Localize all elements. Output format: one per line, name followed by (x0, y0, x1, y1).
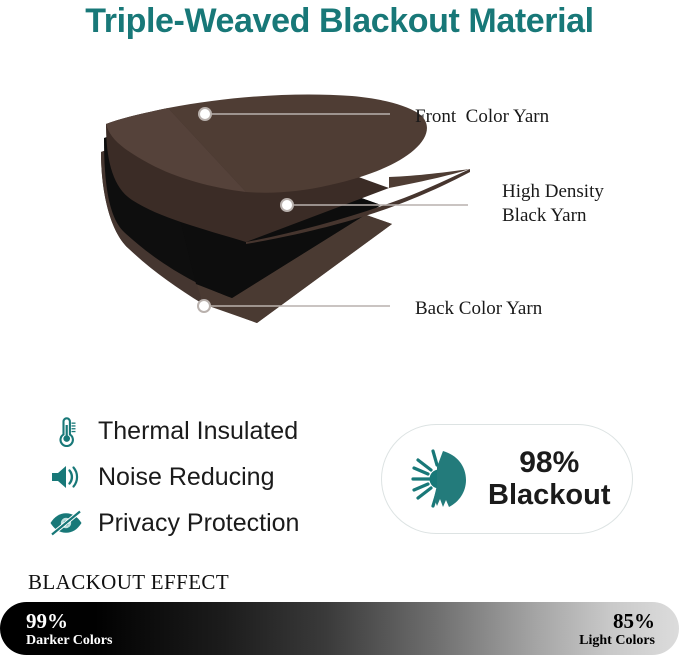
page-title: Triple-Weaved Blackout Material (0, 2, 679, 41)
effect-left-percent: 99% (26, 610, 112, 633)
callout-label-middle: High Density Black Yarn (502, 180, 604, 228)
sun-behind-curtain-icon (404, 443, 476, 515)
feature-privacy-protection: Privacy Protection (46, 500, 376, 546)
badge-percent: 98% (488, 447, 610, 479)
callout-label-front: Front Color Yarn (415, 105, 549, 129)
effect-left-caption: Darker Colors (26, 633, 112, 648)
feature-thermal-insulated: Thermal Insulated (46, 408, 376, 454)
thermometer-icon (46, 413, 86, 449)
feature-label: Noise Reducing (98, 463, 275, 492)
eye-slash-icon (46, 505, 86, 541)
effect-right-caption: Light Colors (579, 633, 655, 648)
circle-marker-back (198, 300, 210, 312)
blackout-badge: 98% Blackout (381, 424, 633, 534)
badge-word: Blackout (488, 480, 610, 511)
circle-marker-front (199, 108, 211, 120)
circle-marker-middle (281, 199, 293, 211)
feature-label: Thermal Insulated (98, 417, 298, 446)
effect-left-end: 99% Darker Colors (26, 610, 112, 648)
effect-right-percent: 85% (579, 610, 655, 633)
feature-noise-reducing: Noise Reducing (46, 454, 376, 500)
callout-label-back: Back Color Yarn (415, 297, 542, 321)
badge-text: 98% Blackout (488, 447, 610, 511)
speaker-sound-icon (46, 459, 86, 495)
curtain-shape (434, 451, 466, 507)
blackout-effect-bar: 99% Darker Colors 85% Light Colors (0, 602, 679, 655)
feature-list: Thermal Insulated Noise Reducing Privacy… (46, 408, 376, 546)
blackout-effect-heading: BLACKOUT EFFECT (28, 570, 229, 595)
effect-right-end: 85% Light Colors (579, 610, 655, 648)
feature-label: Privacy Protection (98, 509, 299, 538)
